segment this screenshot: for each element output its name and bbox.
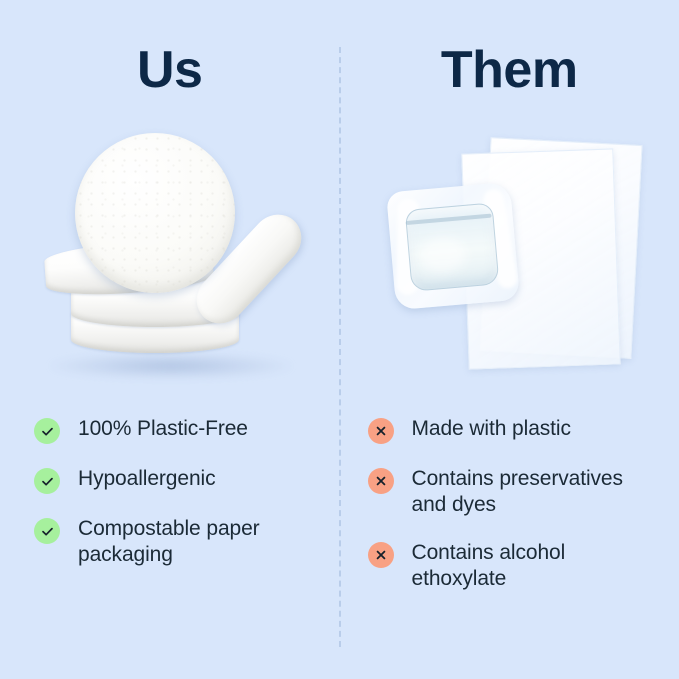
product-image-us [0,125,340,395]
bullet-text: Compostable paper packaging [78,516,323,568]
bullet-text: Made with plastic [412,416,571,442]
bullet-text: Hypoallergenic [78,466,216,492]
bullet-item: 100% Plastic-Free [34,416,326,444]
tablet-disc-upright [75,133,235,293]
column-them: Them Made with plastic [340,0,679,679]
liquid-pod [386,182,520,310]
tablet-shadow [51,353,291,379]
product-image-them [340,125,679,395]
stacked-tablets-illustration [33,125,303,395]
check-icon [34,468,60,494]
bullet-item: Hypoallergenic [34,466,326,494]
x-icon [368,418,394,444]
heading-them: Them [340,44,679,96]
x-icon [368,468,394,494]
bullet-item: Contains alcohol ethoxylate [368,540,670,592]
bullet-text: Contains preservatives and dyes [412,466,657,518]
bullet-text: 100% Plastic-Free [78,416,248,442]
bullet-text: Contains alcohol ethoxylate [412,540,657,592]
check-icon [34,418,60,444]
bullet-item: Contains preservatives and dyes [368,466,670,518]
heading-us: Us [0,44,340,96]
bullet-list-them: Made with plastic Contains preservatives… [340,416,679,614]
bullet-item: Made with plastic [368,416,670,444]
comparison-infographic: Us 100% Plastic-Free [0,0,679,679]
x-icon [368,542,394,568]
column-us: Us 100% Plastic-Free [0,0,340,679]
check-icon [34,518,60,544]
bullet-list-us: 100% Plastic-Free Hypoallergenic Compost… [0,416,340,590]
plastic-pod-illustration [381,125,651,395]
column-divider [339,47,341,647]
bullet-item: Compostable paper packaging [34,516,326,568]
